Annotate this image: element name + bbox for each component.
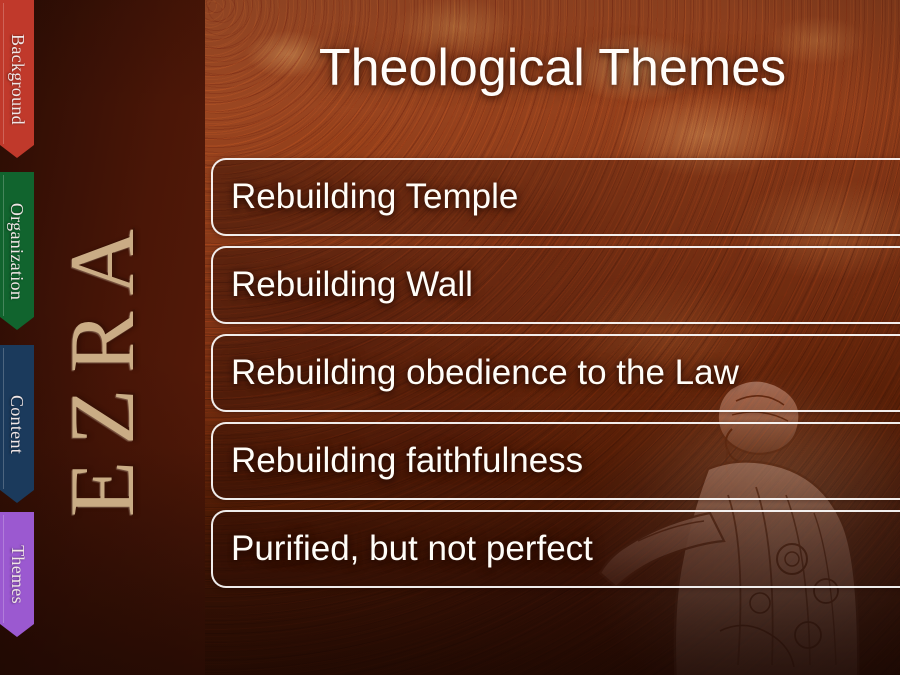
sidebar-item-content[interactable]: Content [0,345,34,503]
list-item-label: Rebuilding Temple [231,177,518,217]
list-item[interactable]: Purified, but not perfect [211,510,900,588]
sidebar-item-label: Background [7,34,28,125]
presentation-slide: EZRA Background Organization Content The… [0,0,900,675]
sidebar-item-label: Organization [7,202,28,299]
tab-highlight-line [3,348,4,489]
tab-highlight-line [3,3,4,144]
list-item-label: Purified, but not perfect [231,529,593,569]
list-item[interactable]: Rebuilding Temple [211,158,900,236]
sidebar-item-organization[interactable]: Organization [0,172,34,330]
list-item[interactable]: Rebuilding obedience to the Law [211,334,900,412]
tab-highlight-line [3,515,4,623]
page-title: Theological Themes [205,40,900,97]
list-item-label: Rebuilding obedience to the Law [231,353,739,393]
list-item-label: Rebuilding Wall [231,265,473,305]
list-item[interactable]: Rebuilding Wall [211,246,900,324]
section-tab-strip: Background Organization Content Themes [0,0,34,675]
theme-list: Rebuilding Temple Rebuilding Wall Rebuil… [211,158,900,598]
sidebar-item-themes[interactable]: Themes [0,512,34,637]
sidebar-item-background[interactable]: Background [0,0,34,158]
list-item[interactable]: Rebuilding faithfulness [211,422,900,500]
tab-highlight-line [3,175,4,316]
sidebar-item-label: Content [7,394,28,453]
sidebar-item-label: Themes [7,545,28,604]
list-item-label: Rebuilding faithfulness [231,441,583,481]
